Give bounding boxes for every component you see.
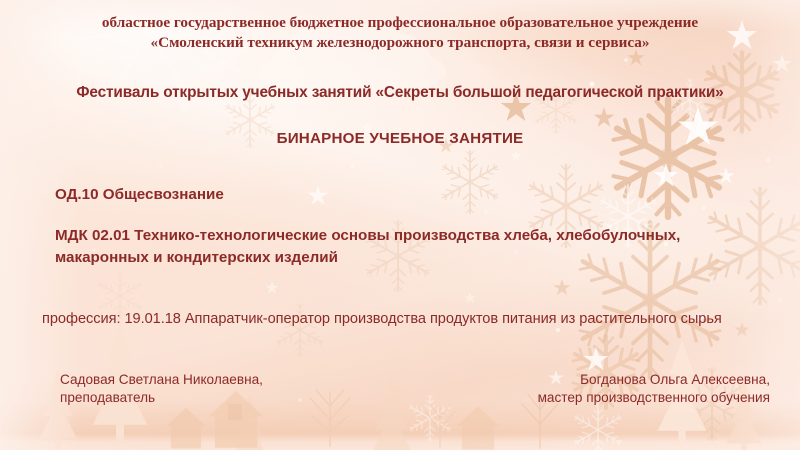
presenter-left-role: преподаватель	[60, 389, 263, 407]
lesson-type-title: БИНАРНОЕ УЧЕБНОЕ ЗАНЯТИЕ	[0, 130, 800, 147]
fir-tree-icon	[371, 376, 413, 450]
module-title-line-1: МДК 02.01 Технико-технологические основы…	[55, 225, 680, 247]
presenter-right-role: мастер производственного обучения	[538, 389, 770, 407]
snowflake-icon	[607, 99, 728, 217]
institution-header: областное государственное бюджетное проф…	[0, 13, 800, 53]
presenter-credit-left: Садовая Светлана Николаевна, преподавате…	[60, 371, 263, 407]
star-icon	[178, 20, 791, 384]
presenter-credit-right: Богданова Ольга Алексеевна, мастер произ…	[538, 371, 770, 407]
institution-name-line-1: областное государственное бюджетное проф…	[0, 13, 800, 33]
presenter-left-name: Садовая Светлана Николаевна,	[60, 371, 263, 389]
snowflake-icon	[704, 189, 800, 304]
house-icon	[457, 406, 499, 449]
module-title: МДК 02.01 Технико-технологические основы…	[55, 225, 680, 269]
bare-branch-decoration	[310, 390, 350, 446]
profession-line: профессия: 19.01.18 Аппаратчик-оператор …	[42, 311, 722, 327]
presenter-right-name: Богданова Ольга Алексеевна,	[538, 371, 770, 389]
subject-discipline: ОД.10 Общесвознание	[55, 186, 224, 203]
festival-title: Фестиваль открытых учебных занятий «Секр…	[0, 84, 800, 102]
snowflake-icon	[573, 404, 624, 450]
bare-branch-decoration	[426, 404, 454, 448]
snowflake-icon	[408, 395, 453, 441]
module-title-line-2: макаронных и кондитерских изделий	[55, 247, 680, 269]
snowflake-icon	[440, 151, 501, 213]
house-icon	[166, 408, 206, 449]
institution-name-line-2: «Смоленский техникум железнодорожного тр…	[0, 33, 800, 53]
presentation-title-slide: областное государственное бюджетное проф…	[0, 0, 800, 450]
